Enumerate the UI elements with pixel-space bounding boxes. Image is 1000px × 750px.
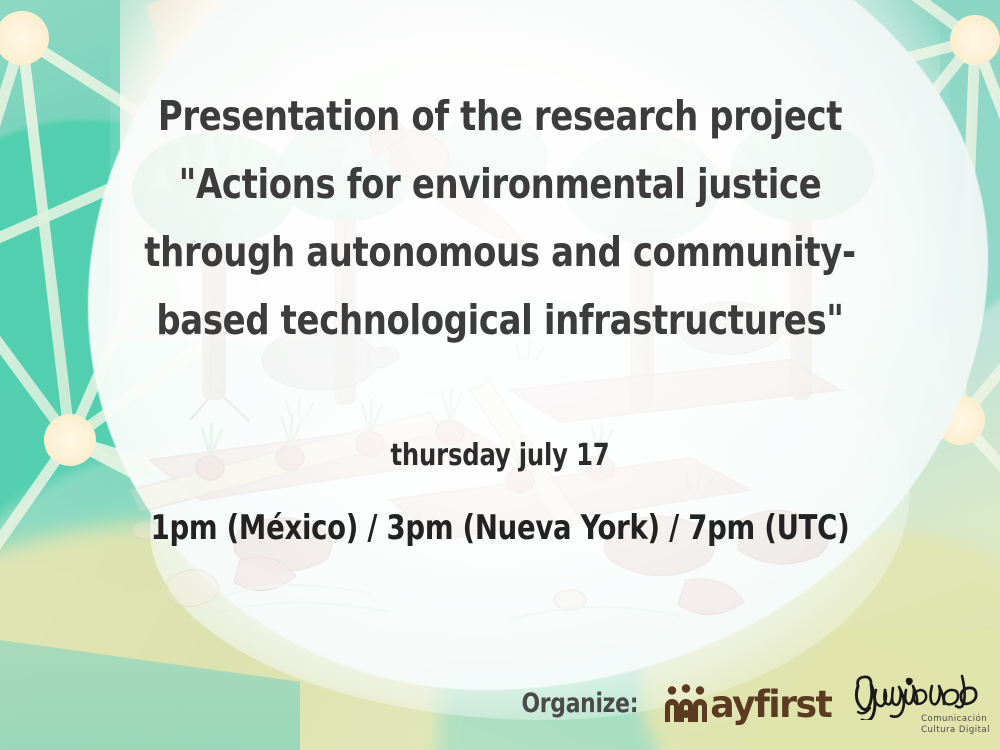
footer: Organize: ayfirst <box>0 660 1000 750</box>
mayfirst-people-icon <box>663 684 709 724</box>
page-title: Presentation of the research project "Ac… <box>40 82 960 354</box>
surgiendo-script-wordmark <box>850 672 992 720</box>
surgiendo-logo[interactable]: Comunicación Cultura Digital <box>850 674 992 736</box>
event-times: 1pm (México) / 3pm (Nueva York) / 7pm (U… <box>50 508 950 548</box>
event-date: thursday july 17 <box>50 438 950 473</box>
surgiendo-subtitle: Comunicación Cultura Digital <box>921 714 990 736</box>
title-line-2: "Actions for environmental justice <box>40 150 960 218</box>
event-poster: Presentation of the research project "Ac… <box>0 0 1000 750</box>
organizers-row: Organize: ayfirst <box>0 660 1000 750</box>
title-line-3: through autonomous and community- <box>40 218 960 286</box>
organize-label: Organize: <box>521 688 638 719</box>
title-line-4: based technological infrastructures" <box>40 286 960 354</box>
mayfirst-logo[interactable]: ayfirst <box>663 683 833 726</box>
surgiendo-subtitle-line-2: Cultura Digital <box>921 725 990 736</box>
title-line-1: Presentation of the research project <box>40 82 960 150</box>
mayfirst-wordmark: ayfirst <box>710 683 831 726</box>
surgiendo-subtitle-line-1: Comunicación <box>921 714 990 725</box>
poster-content: Presentation of the research project "Ac… <box>0 0 1000 750</box>
